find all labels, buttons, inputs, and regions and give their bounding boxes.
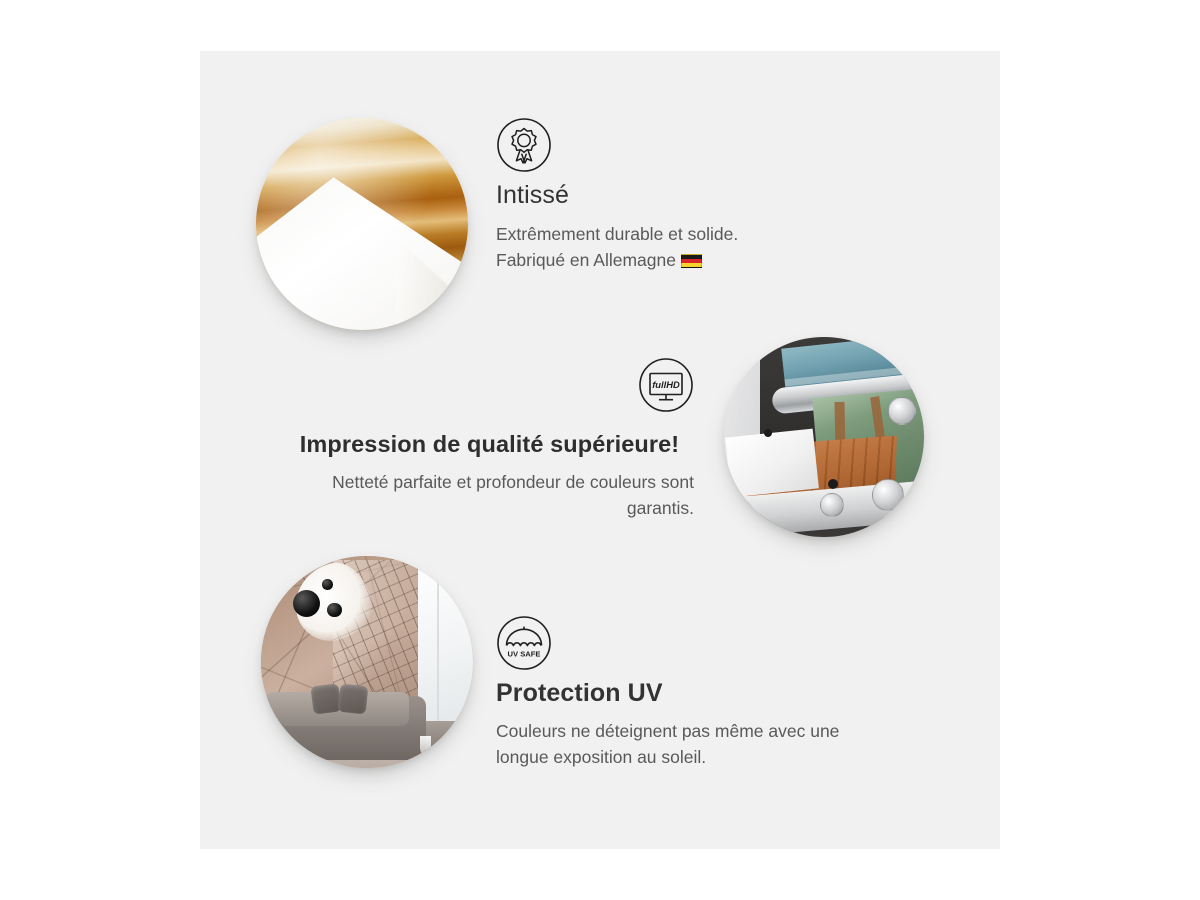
feature-body-line2: garantis. — [627, 498, 694, 518]
feature-image-impression — [724, 337, 924, 537]
svg-text:fullHD: fullHD — [652, 379, 680, 390]
mural-dark-sphere — [327, 603, 342, 618]
press-paper-sheet — [725, 429, 819, 498]
feature-body-impression: Netteté parfaite et profondeur de couleu… — [285, 469, 694, 521]
feature-body-line2: Fabriqué en Allemagne — [496, 250, 676, 270]
feature-block-impression: fullHD Impression de qualité supérieure!… — [285, 357, 694, 521]
feature-image-protection-uv — [261, 556, 473, 768]
press-roller-wheel — [872, 479, 904, 511]
mural-dark-sphere — [322, 579, 333, 590]
room-window — [418, 556, 473, 738]
infographic-panel: Intissé Extrêmement durable et solide. F… — [200, 51, 1000, 849]
room-cushion — [338, 684, 368, 714]
press-knob — [764, 429, 772, 437]
printing-press-art — [724, 337, 924, 537]
feature-title-impression: Impression de qualité supérieure! — [285, 429, 694, 459]
press-knob — [828, 479, 838, 489]
wallpaper-sample-art — [256, 118, 468, 330]
feature-body-intisse: Extrêmement durable et solide. Fabriqué … — [496, 221, 796, 273]
feature-image-intisse — [256, 118, 468, 330]
room-cushion — [310, 684, 341, 715]
feature-block-intisse: Intissé Extrêmement durable et solide. F… — [496, 117, 796, 273]
feature-block-protection-uv: UV SAFE Protection UV Couleurs ne déteig… — [496, 615, 876, 770]
feature-body-line2: longue exposition au soleil. — [496, 747, 706, 767]
german-flag-icon — [681, 254, 702, 268]
press-roller-wheel — [820, 493, 844, 517]
fullhd-monitor-icon: fullHD — [638, 357, 694, 413]
award-rosette-icon — [496, 117, 552, 173]
uv-safe-label: UV SAFE — [508, 649, 541, 658]
product-feature-infographic: Intissé Extrêmement durable et solide. F… — [0, 0, 1200, 900]
feature-title-protection-uv: Protection UV — [496, 678, 876, 708]
room-glass — [420, 736, 431, 755]
feature-body-protection-uv: Couleurs ne déteignent pas même avec une… — [496, 718, 876, 770]
feature-body-line1: Couleurs ne déteignent pas même avec une — [496, 721, 839, 741]
feature-body-line1: Netteté parfaite et profondeur de couleu… — [332, 472, 694, 492]
living-room-mural-art — [261, 556, 473, 768]
uv-safe-umbrella-icon: UV SAFE — [496, 615, 552, 671]
feature-title-intisse: Intissé — [496, 180, 796, 210]
feature-body-line1: Extrêmement durable et solide. — [496, 224, 738, 244]
press-roller-wheel — [888, 397, 916, 425]
